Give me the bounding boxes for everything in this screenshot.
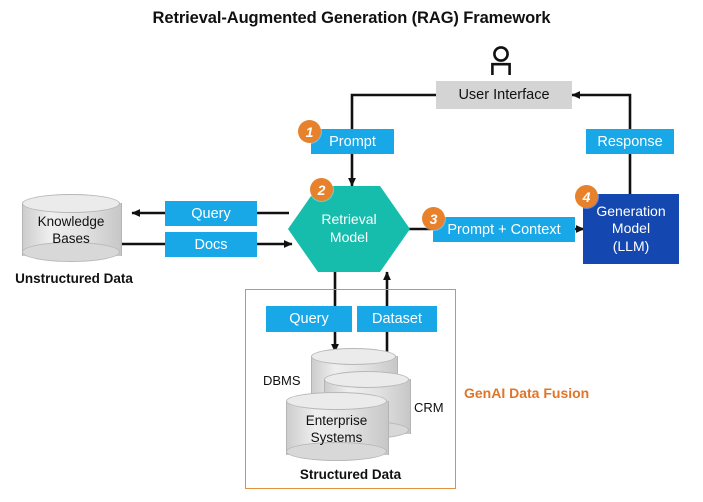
node-query-left-label: Query (191, 206, 231, 222)
generation-model-line-1: Generation (596, 203, 665, 220)
node-enterprise-systems-labels: Enterprise Systems (286, 413, 387, 447)
node-response[interactable]: Response (586, 129, 674, 154)
label-crm: CRM (414, 400, 444, 415)
badge-step-4: 4 (575, 185, 598, 208)
node-dataset-label: Dataset (372, 311, 422, 327)
user-person-icon (487, 46, 515, 76)
node-docs-label: Docs (194, 237, 227, 253)
generation-model-line-2: Model (596, 220, 665, 237)
node-retrieval-model-labels: Retrieval Model (288, 186, 410, 272)
node-query-bottom-label: Query (289, 311, 329, 327)
page-title: Retrieval-Augmented Generation (RAG) Fra… (0, 9, 703, 28)
node-user-interface-label: User Interface (458, 87, 549, 103)
node-query-bottom[interactable]: Query (266, 306, 352, 332)
node-knowledge-bases[interactable]: Knowledge Bases (22, 194, 120, 264)
node-response-label: Response (597, 134, 662, 150)
enterprise-systems-line-2: Systems (286, 430, 387, 447)
cylinder-top (286, 392, 387, 410)
badge-step-3: 3 (422, 207, 445, 230)
node-docs[interactable]: Docs (165, 232, 257, 257)
node-knowledge-bases-labels: Knowledge Bases (22, 214, 120, 248)
cylinder-top (324, 371, 409, 388)
node-query-left[interactable]: Query (165, 201, 257, 226)
generation-model-line-3: (LLM) (596, 238, 665, 255)
node-prompt-plus-context-label: Prompt + Context (447, 222, 560, 238)
node-dataset[interactable]: Dataset (357, 306, 437, 332)
label-structured-data: Structured Data (248, 467, 453, 482)
knowledge-bases-line-1: Knowledge (22, 214, 120, 231)
badge-step-1: 1 (298, 120, 321, 143)
badge-step-2: 2 (310, 178, 333, 201)
node-prompt-plus-context[interactable]: Prompt + Context (433, 217, 575, 242)
node-user-interface[interactable]: User Interface (436, 81, 572, 109)
retrieval-model-line-1: Retrieval (321, 211, 376, 229)
node-generation-model-labels: Generation Model (LLM) (596, 203, 665, 254)
label-dbms: DBMS (263, 373, 301, 388)
node-generation-model[interactable]: Generation Model (LLM) (583, 194, 679, 264)
label-unstructured-data: Unstructured Data (9, 271, 139, 286)
enterprise-systems-line-1: Enterprise (286, 413, 387, 430)
node-prompt-label: Prompt (329, 134, 376, 150)
label-genai-data-fusion: GenAI Data Fusion (464, 385, 589, 401)
retrieval-model-line-2: Model (330, 229, 368, 247)
knowledge-bases-line-2: Bases (22, 231, 120, 248)
cylinder-top (311, 348, 396, 365)
node-prompt[interactable]: Prompt (311, 129, 394, 154)
cylinder-top (22, 194, 120, 213)
node-enterprise-systems-cylinder[interactable]: Enterprise Systems (286, 392, 387, 464)
node-retrieval-model[interactable]: Retrieval Model (288, 186, 410, 272)
